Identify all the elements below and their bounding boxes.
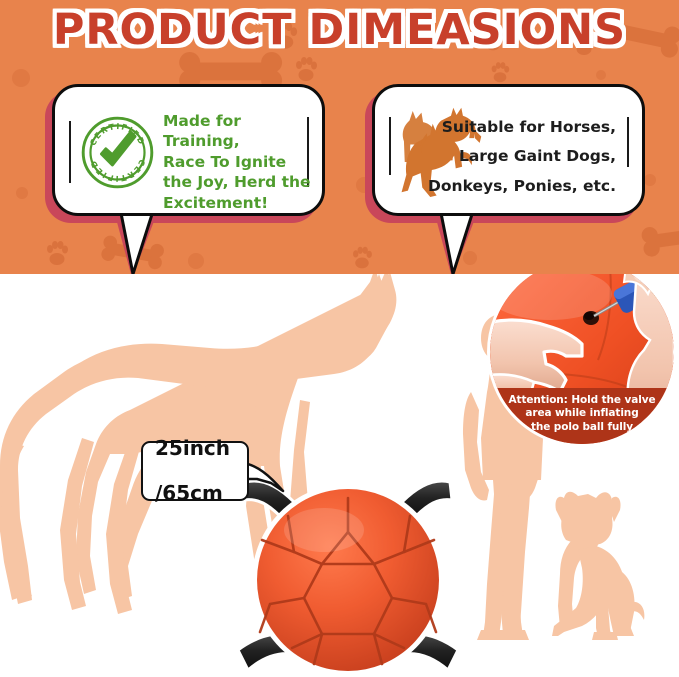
right-feature-bubble: Suitable for Horses, Large Gaint Dogs, D… xyxy=(372,84,645,216)
right-bubble-line-3: Donkeys, Ponies, etc. xyxy=(426,172,616,201)
inset-caption-line-2: area while inflating xyxy=(500,407,664,420)
right-bubble-line-2: Large Gaint Dogs, xyxy=(426,142,616,171)
header-band: PRODUCT DIMEASIONS xyxy=(0,0,679,274)
svg-text:· CERTIFIED ·: · CERTIFIED · xyxy=(81,116,148,151)
certified-badge-icon: · CERTIFIED · · CERTIFIED · xyxy=(81,116,154,189)
bubble-body: Suitable for Horses, Large Gaint Dogs, D… xyxy=(372,84,645,216)
left-bubble-line-1: Made for Training, xyxy=(163,111,313,152)
page-title: PRODUCT DIMEASIONS xyxy=(0,8,679,53)
size-value: 25inch /65cm xyxy=(155,415,230,527)
size-callout: 25inch /65cm xyxy=(141,441,249,501)
tick-left-icon xyxy=(69,121,71,183)
left-bubble-line-4: Excitement! xyxy=(163,193,313,213)
right-bubble-text: Suitable for Horses, Large Gaint Dogs, D… xyxy=(426,113,616,201)
inset-caption-line-1: Attention: Hold the valve xyxy=(500,394,664,407)
size-line-2: /65cm xyxy=(155,482,230,504)
bubble-tail xyxy=(422,208,492,274)
dog-silhouette xyxy=(538,486,648,644)
valve-inflation-inset: Attention: Hold the valve area while inf… xyxy=(487,274,677,447)
left-bubble-line-2: Race To Ignite xyxy=(163,152,313,172)
left-bubble-text: Made for Training, Race To Ignite the Jo… xyxy=(163,111,313,213)
inset-caption-line-3: the polo ball fully xyxy=(500,421,664,434)
inset-caption: Attention: Hold the valve area while inf… xyxy=(490,388,674,444)
bubble-tail xyxy=(102,208,172,274)
size-callout-wrap: 25inch /65cm xyxy=(141,441,249,501)
bubble-body: · CERTIFIED · · CERTIFIED · Made for Tra… xyxy=(52,84,325,216)
size-line-1: 25inch xyxy=(155,437,230,459)
tick-left-icon xyxy=(389,117,391,175)
right-bubble-line-1: Suitable for Horses, xyxy=(426,113,616,142)
tick-right-icon xyxy=(627,117,629,167)
left-bubble-line-3: the Joy, Herd the xyxy=(163,172,313,192)
main-illustration-area: 25inch /65cm xyxy=(0,274,679,677)
product-infographic: PRODUCT DIMEASIONS xyxy=(0,0,679,677)
left-feature-bubble: · CERTIFIED · · CERTIFIED · Made for Tra… xyxy=(52,84,325,216)
polo-ball xyxy=(232,472,464,677)
